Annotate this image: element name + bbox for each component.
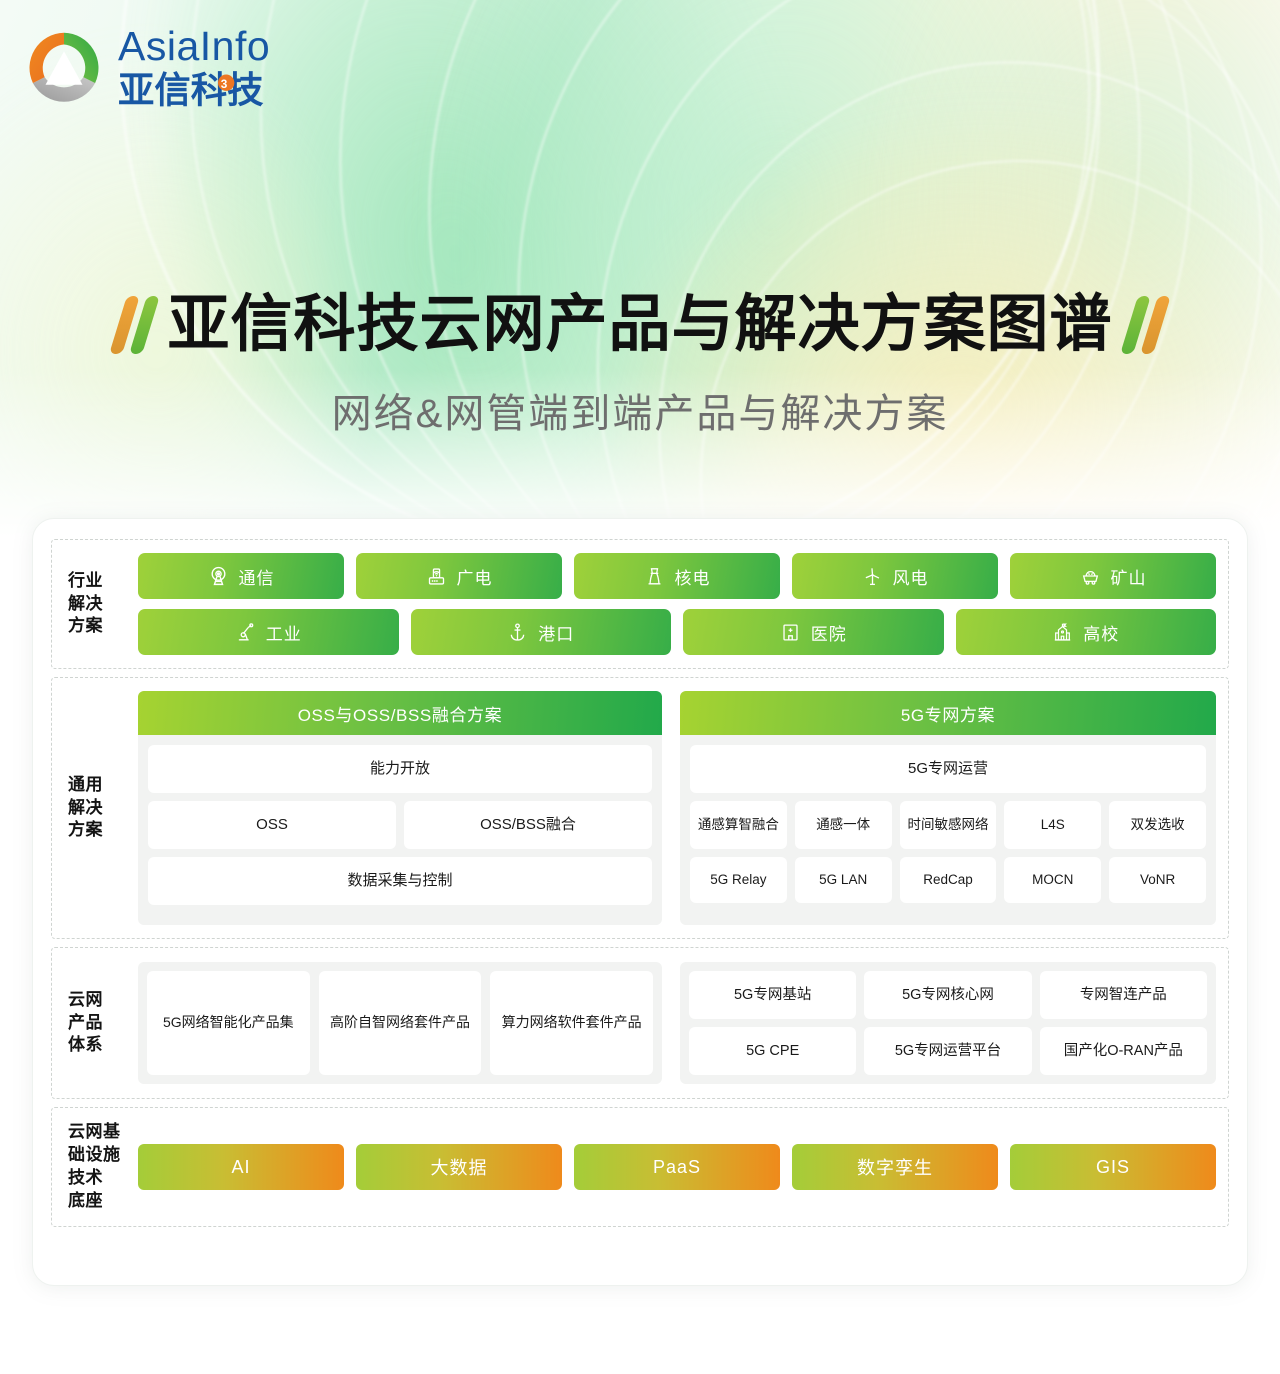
- chip-5g-operation[interactable]: 5G专网运营: [690, 745, 1206, 793]
- panel-oss-title: OSS与OSS/BSS融合方案: [138, 691, 662, 735]
- section-general-solution: 通用 解决 方案 OSS与OSS/BSS融合方案 能力开放 OSS OSS/BS…: [51, 677, 1229, 939]
- label-line: 体系: [68, 1034, 138, 1057]
- industry-item-label: 港口: [538, 620, 574, 645]
- chip-redcap[interactable]: RedCap: [900, 857, 997, 903]
- chip-isac[interactable]: 通感一体: [795, 801, 892, 849]
- industry-item-label: 医院: [811, 620, 847, 645]
- industry-item-label: 工业: [266, 620, 302, 645]
- section-general-label: 通用 解决 方案: [64, 774, 138, 842]
- asiainfo-ring-logo-icon: [22, 26, 106, 110]
- school-building-icon: [1052, 622, 1073, 643]
- label-line: 通用: [68, 774, 138, 797]
- panel-5g-private: 5G专网方案 5G专网运营 通感算智融合 通感一体 时间敏感网络 L4S 双发选…: [680, 691, 1216, 925]
- infra-item-gis[interactable]: GIS: [1010, 1144, 1216, 1190]
- section-product-label: 云网 产品 体系: [64, 989, 138, 1057]
- product-5g-base-station[interactable]: 5G专网基站: [689, 971, 856, 1019]
- chip-mocn[interactable]: MOCN: [1004, 857, 1101, 903]
- label-line: 云网: [68, 989, 138, 1012]
- industry-item-label: 风电: [893, 564, 929, 589]
- section-infrastructure-label: 云网基 础设施 技术 底座: [64, 1121, 138, 1212]
- label-line: 方案: [68, 615, 138, 638]
- label-line: 技术: [68, 1167, 138, 1190]
- anchor-icon: [507, 622, 528, 643]
- industrial-robot-arm-icon: [235, 622, 256, 643]
- industry-item-nuclear[interactable]: 核电: [574, 553, 780, 599]
- chip-vonr[interactable]: VoNR: [1109, 857, 1206, 903]
- product-oran[interactable]: 国产化O-RAN产品: [1040, 1027, 1207, 1075]
- chip-5g-lan[interactable]: 5G LAN: [795, 857, 892, 903]
- title-accent-right: [1129, 296, 1162, 354]
- label-line: 解决: [68, 797, 138, 820]
- set-top-box-wifi-icon: [426, 566, 447, 587]
- section-product-system: 云网 产品 体系 5G网络智能化产品集 高阶自智网络套件产品 算力网络软件套件产…: [51, 947, 1229, 1099]
- chip-l4s[interactable]: L4S: [1004, 801, 1101, 849]
- chip-isac-fusion[interactable]: 通感算智融合: [690, 801, 787, 849]
- industry-item-wind[interactable]: 风电: [792, 553, 998, 599]
- antenna-tower-icon: [208, 566, 229, 587]
- product-5g-core-network[interactable]: 5G专网核心网: [864, 971, 1031, 1019]
- industry-item-industrial[interactable]: 工业: [138, 609, 399, 655]
- hospital-building-icon: [780, 622, 801, 643]
- section-industry-label: 行业 解决 方案: [64, 570, 138, 638]
- chip-capability-open[interactable]: 能力开放: [148, 745, 652, 793]
- chip-oss[interactable]: OSS: [148, 801, 396, 849]
- label-line: 础设施: [68, 1144, 138, 1167]
- chip-dual-send-select[interactable]: 双发选收: [1109, 801, 1206, 849]
- label-line: 方案: [68, 819, 138, 842]
- infra-item-bigdata[interactable]: 大数据: [356, 1144, 562, 1190]
- industry-item-label: 矿山: [1111, 564, 1147, 589]
- label-line: 产品: [68, 1012, 138, 1035]
- brand-logo: AsiaInfo 亚信科技 3: [22, 26, 300, 110]
- wind-turbine-icon: [862, 566, 883, 587]
- industry-item-telecom[interactable]: 通信: [138, 553, 344, 599]
- infra-item-digital-twin[interactable]: 数字孪生: [792, 1144, 998, 1190]
- infra-item-ai[interactable]: AI: [138, 1144, 344, 1190]
- industry-item-label: 广电: [457, 564, 493, 589]
- industry-item-broadcast[interactable]: 广电: [356, 553, 562, 599]
- product-5g-operation-platform[interactable]: 5G专网运营平台: [864, 1027, 1031, 1075]
- title-accent-left: [118, 296, 151, 354]
- diagram-card: 行业 解决 方案 通信: [32, 518, 1248, 1286]
- industry-item-mining[interactable]: 矿山: [1010, 553, 1216, 599]
- industry-item-label: 通信: [239, 564, 275, 589]
- industry-item-hospital[interactable]: 医院: [683, 609, 944, 655]
- chip-oss-bss[interactable]: OSS/BSS融合: [404, 801, 652, 849]
- product-right-group: 5G专网基站 5G专网核心网 专网智连产品 5G CPE 5G专网运营平台 国产…: [680, 962, 1216, 1084]
- product-5g-cpe[interactable]: 5G CPE: [689, 1027, 856, 1075]
- nuclear-cooling-tower-icon: [644, 566, 665, 587]
- section-industry: 行业 解决 方案 通信: [51, 539, 1229, 669]
- industry-item-port[interactable]: 港口: [411, 609, 672, 655]
- panel-oss: OSS与OSS/BSS融合方案 能力开放 OSS OSS/BSS融合 数据采集与…: [138, 691, 662, 925]
- brand-name-en: AsiaInfo: [118, 26, 300, 67]
- industry-item-university[interactable]: 高校: [956, 609, 1217, 655]
- chip-5g-relay[interactable]: 5G Relay: [690, 857, 787, 903]
- product-computing-network-suite[interactable]: 算力网络软件套件产品: [490, 971, 653, 1075]
- label-line: 底座: [68, 1190, 138, 1213]
- chip-data-collection[interactable]: 数据采集与控制: [148, 857, 652, 905]
- chip-tsn[interactable]: 时间敏感网络: [900, 801, 997, 849]
- svg-text:亚信科技: 亚信科技: [118, 70, 264, 110]
- industry-item-label: 核电: [675, 564, 711, 589]
- page-title-block: 亚信科技云网产品与解决方案图谱 网络&网管端到端产品与解决方案: [0, 292, 1280, 439]
- industry-item-label: 高校: [1083, 620, 1119, 645]
- label-line: 行业: [68, 570, 138, 593]
- product-smart-connect[interactable]: 专网智连产品: [1040, 971, 1207, 1019]
- panel-5g-private-title: 5G专网方案: [680, 691, 1216, 735]
- mine-cart-icon: [1080, 566, 1101, 587]
- label-line: 云网基: [68, 1121, 138, 1144]
- industry-row-1: 通信 广电 核电: [138, 553, 1216, 599]
- product-autonomous-network-suite[interactable]: 高阶自智网络套件产品: [319, 971, 482, 1075]
- brand-name-cn-icon: 亚信科技 3: [118, 70, 300, 110]
- product-5g-intelligent-suite[interactable]: 5G网络智能化产品集: [147, 971, 310, 1075]
- industry-row-2: 工业 港口 医院: [138, 609, 1216, 655]
- page-subtitle: 网络&网管端到端产品与解决方案: [0, 381, 1280, 439]
- product-left-group: 5G网络智能化产品集 高阶自智网络套件产品 算力网络软件套件产品: [138, 962, 662, 1084]
- svg-text:3: 3: [221, 77, 228, 91]
- section-infrastructure: 云网基 础设施 技术 底座 AI 大数据 PaaS 数字孪生 GIS: [51, 1107, 1229, 1227]
- label-line: 解决: [68, 593, 138, 616]
- page-title: 亚信科技云网产品与解决方案图谱: [167, 292, 1112, 359]
- infra-item-paas[interactable]: PaaS: [574, 1144, 780, 1190]
